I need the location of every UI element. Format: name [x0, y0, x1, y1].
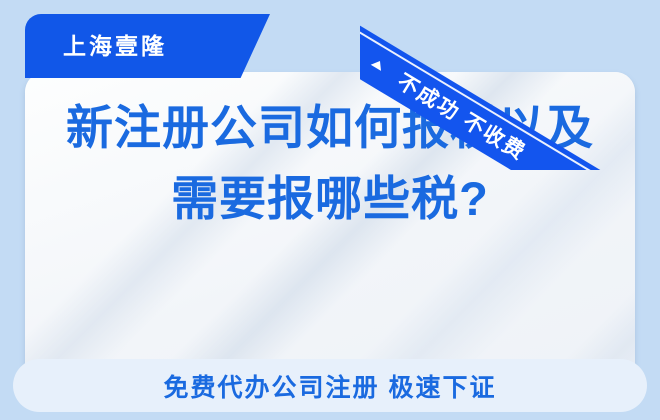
cta-banner-label: 免费代办公司注册 极速下证 [164, 368, 497, 404]
brand-tab: 上海壹隆 [25, 14, 270, 78]
page-title: 新注册公司如何报税以及 需要报哪些税? [0, 92, 660, 235]
cta-banner[interactable]: 免费代办公司注册 极速下证 [13, 359, 647, 412]
poster-canvas: 上海壹隆 不成功 不收费 新注册公司如何报税以及 需要报哪些税? 免费代办公司注… [0, 0, 660, 420]
page-title-line-1: 新注册公司如何报税以及 [0, 92, 660, 163]
triangle-up-icon [371, 58, 385, 71]
brand-tab-label: 上海壹隆 [63, 35, 167, 58]
page-title-line-2: 需要报哪些税? [0, 163, 660, 234]
